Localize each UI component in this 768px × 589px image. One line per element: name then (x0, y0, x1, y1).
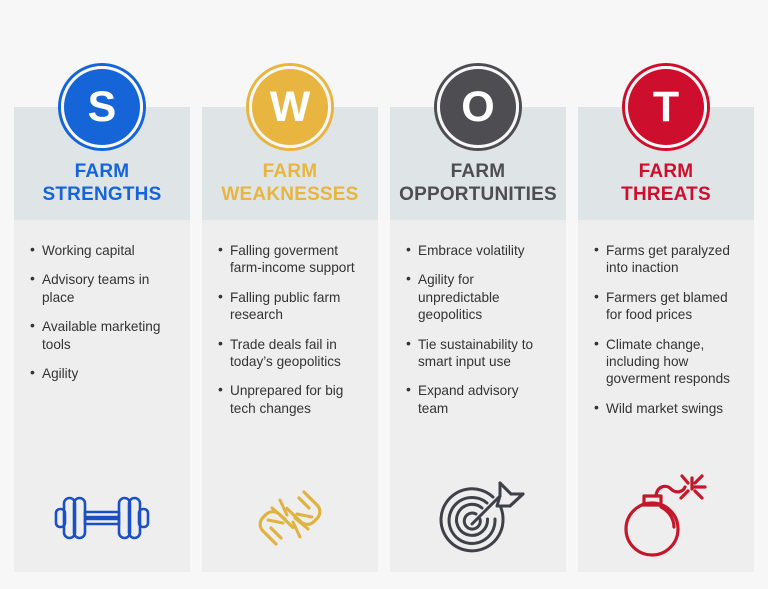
panel-threats: FARM THREATS Farms get paralyzed into in… (578, 107, 754, 572)
bomb-icon (616, 474, 716, 562)
list-item: Climate change, including how goverment … (594, 336, 740, 388)
list-item: Expand advisory team (406, 382, 552, 417)
list-item: Working capital (30, 242, 176, 259)
panel-title-weaknesses: FARM WEAKNESSES (221, 160, 358, 206)
dumbbell-icon (52, 487, 152, 549)
badge-wrap-threats: T (578, 0, 754, 107)
icon-slot-opportunities (390, 478, 566, 558)
badge-threats: T (622, 63, 710, 151)
badge-letter-w: W (270, 86, 311, 129)
swot-columns: S FARM STRENGTHS Working capital Advisor… (0, 0, 768, 589)
bullet-list-strengths: Working capital Advisory teams in place … (14, 220, 190, 394)
list-item: Trade deals fail in today’s geopolitics (218, 336, 364, 371)
icon-slot-weaknesses (202, 478, 378, 558)
list-item: Wild market swings (594, 400, 740, 417)
list-item: Unprepared for big tech changes (218, 382, 364, 417)
bullet-list-threats: Farms get paralyzed into inaction Farmer… (578, 220, 754, 429)
broken-chain-icon (247, 478, 333, 558)
badge-letter-o: O (461, 86, 494, 129)
badge-letter-t: T (653, 86, 679, 129)
icon-slot-strengths (14, 478, 190, 558)
badge-wrap-weaknesses: W (202, 0, 378, 107)
bullet-list-weaknesses: Falling goverment farm-income support Fa… (202, 220, 378, 429)
icon-slot-threats (578, 478, 754, 558)
list-item: Tie sustainability to smart input use (406, 336, 552, 371)
list-item: Embrace volatility (406, 242, 552, 259)
panel-weaknesses: FARM WEAKNESSES Falling goverment farm-i… (202, 107, 378, 572)
bullet-list-opportunities: Embrace volatility Agility for unpredict… (390, 220, 566, 429)
badge-wrap-strengths: S (14, 0, 190, 107)
badge-opportunities: O (434, 63, 522, 151)
badge-wrap-opportunities: O (390, 0, 566, 107)
swot-column-opportunities: O FARM OPPORTUNITIES Embrace volatility … (390, 0, 566, 589)
panel-title-opportunities: FARM OPPORTUNITIES (399, 160, 557, 206)
list-item: Available marketing tools (30, 318, 176, 353)
list-item: Falling goverment farm-income support (218, 242, 364, 277)
badge-strengths: S (58, 63, 146, 151)
list-item: Farms get paralyzed into inaction (594, 242, 740, 277)
badge-letter-s: S (88, 86, 117, 129)
swot-column-strengths: S FARM STRENGTHS Working capital Advisor… (14, 0, 190, 589)
panel-title-threats: FARM THREATS (621, 160, 711, 206)
badge-weaknesses: W (246, 63, 334, 151)
swot-column-weaknesses: W FARM WEAKNESSES Falling goverment farm… (202, 0, 378, 589)
panel-strengths: FARM STRENGTHS Working capital Advisory … (14, 107, 190, 572)
panel-opportunities: FARM OPPORTUNITIES Embrace volatility Ag… (390, 107, 566, 572)
list-item: Farmers get blamed for food prices (594, 289, 740, 324)
list-item: Falling public farm research (218, 289, 364, 324)
swot-infographic: S FARM STRENGTHS Working capital Advisor… (0, 0, 768, 589)
list-item: Agility for unpredictable geopolitics (406, 271, 552, 323)
panel-title-strengths: FARM STRENGTHS (43, 160, 162, 206)
list-item: Agility (30, 365, 176, 382)
list-item: Advisory teams in place (30, 271, 176, 306)
target-arrow-icon (431, 475, 525, 561)
swot-column-threats: T FARM THREATS Farms get paralyzed into … (578, 0, 754, 589)
